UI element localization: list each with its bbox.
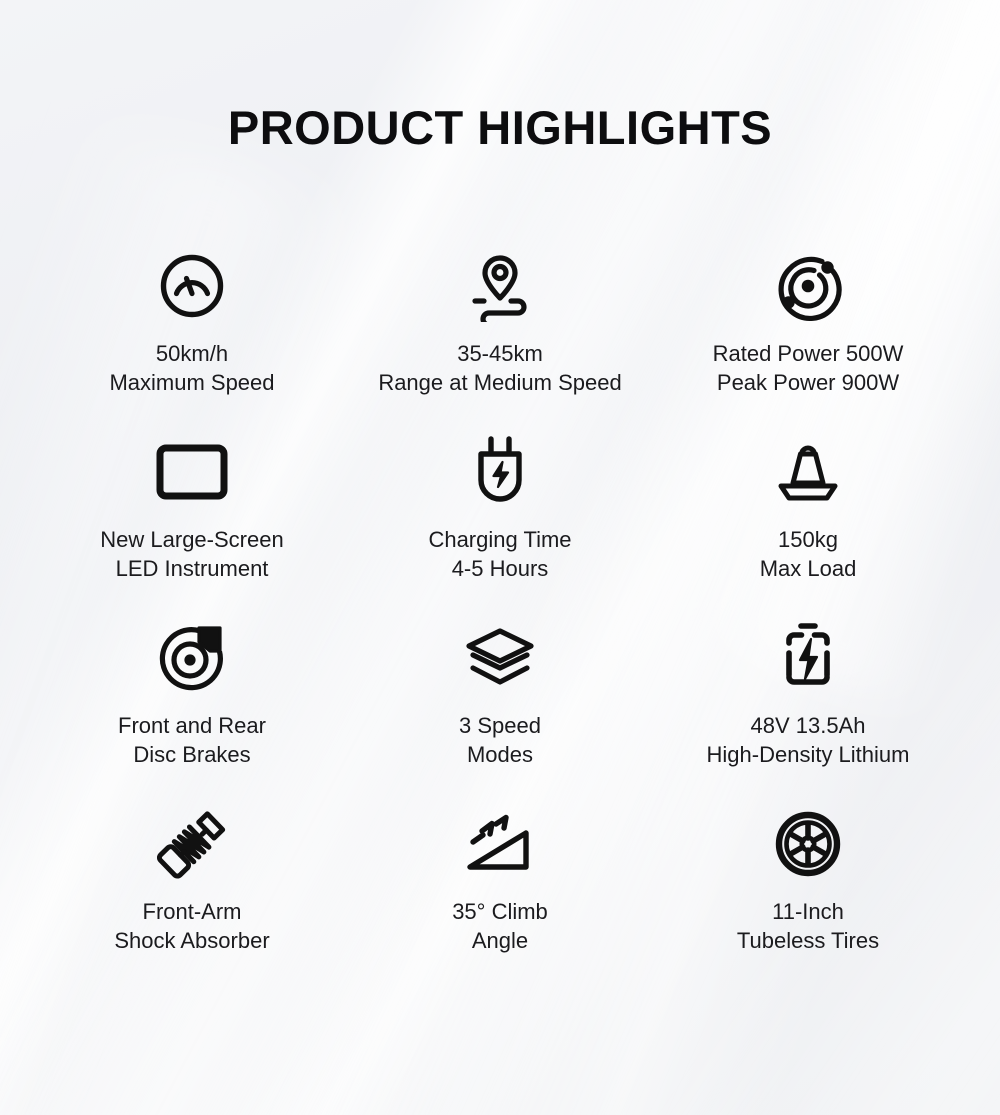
display-screen-icon (152, 435, 232, 509)
weight-load-icon (771, 435, 845, 509)
feature-cell-max-load: 150kg Max Load (654, 435, 962, 621)
feature-cell-speed-modes: 3 Speed Modes (346, 621, 654, 807)
feature-line-2: Max Load (760, 554, 857, 583)
feature-labels: 150kg Max Load (760, 525, 857, 583)
feature-cell-disc-brakes: Front and Rear Disc Brakes (38, 621, 346, 807)
feature-line-1: Front-Arm (143, 899, 242, 924)
feature-line-1: 150kg (778, 527, 838, 552)
feature-line-2: Range at Medium Speed (378, 368, 621, 397)
feature-line-2: LED Instrument (100, 554, 283, 583)
feature-line-2: Modes (459, 740, 541, 769)
feature-line-2: Disc Brakes (118, 740, 266, 769)
feature-labels: 35° Climb Angle (452, 897, 548, 955)
page-title: PRODUCT HIGHLIGHTS (0, 0, 1000, 151)
feature-cell-shock-absorber: Front-Arm Shock Absorber (38, 807, 346, 993)
feature-line-2: High-Density Lithium (707, 740, 910, 769)
feature-line-1: 11-Inch (772, 899, 844, 924)
feature-cell-range: 35-45km Range at Medium Speed (346, 249, 654, 435)
feature-line-1: New Large-Screen (100, 527, 283, 552)
feature-labels: New Large-Screen LED Instrument (100, 525, 283, 583)
feature-line-2: 4-5 Hours (428, 554, 571, 583)
feature-line-2: Shock Absorber (114, 926, 269, 955)
feature-cell-power: Rated Power 500W Peak Power 900W (654, 249, 962, 435)
speedometer-icon (156, 249, 228, 323)
layers-icon (461, 621, 539, 695)
feature-line-2: Tubeless Tires (737, 926, 879, 955)
feature-line-2: Angle (452, 926, 548, 955)
feature-labels: 11-Inch Tubeless Tires (737, 897, 879, 955)
feature-grid: 50km/h Maximum Speed 35-45km Range at (0, 249, 1000, 993)
brake-disc-icon (156, 621, 228, 695)
shock-absorber-icon (154, 807, 230, 881)
charging-plug-icon (468, 435, 532, 509)
feature-line-2: Maximum Speed (109, 368, 274, 397)
battery-bolt-icon (779, 621, 837, 695)
feature-cell-climb-angle: 35° Climb Angle (346, 807, 654, 993)
feature-line-1: 3 Speed (459, 713, 541, 738)
feature-line-2: Peak Power 900W (713, 368, 904, 397)
feature-cell-charging-time: Charging Time 4-5 Hours (346, 435, 654, 621)
feature-labels: 48V 13.5Ah High-Density Lithium (707, 711, 910, 769)
feature-labels: Charging Time 4-5 Hours (428, 525, 571, 583)
feature-labels: Rated Power 500W Peak Power 900W (713, 339, 904, 397)
feature-cell-maximum-speed: 50km/h Maximum Speed (38, 249, 346, 435)
content-container: PRODUCT HIGHLIGHTS 50km/h Maximum Speed (0, 0, 1000, 993)
feature-line-1: 50km/h (156, 341, 228, 366)
feature-labels: Front and Rear Disc Brakes (118, 711, 266, 769)
feature-line-1: Charging Time (428, 527, 571, 552)
feature-cell-battery: 48V 13.5Ah High-Density Lithium (654, 621, 962, 807)
feature-cell-led-instrument: New Large-Screen LED Instrument (38, 435, 346, 621)
motor-orbit-icon (772, 249, 844, 323)
map-pin-route-icon (462, 249, 538, 323)
product-highlights-page: PRODUCT HIGHLIGHTS 50km/h Maximum Speed (0, 0, 1000, 1115)
feature-labels: 3 Speed Modes (459, 711, 541, 769)
feature-line-1: 35-45km (457, 341, 543, 366)
feature-line-1: Rated Power 500W (713, 341, 904, 366)
climb-slope-icon (460, 807, 540, 881)
feature-labels: 50km/h Maximum Speed (109, 339, 274, 397)
feature-line-1: Front and Rear (118, 713, 266, 738)
tire-wheel-icon (772, 807, 844, 881)
feature-labels: Front-Arm Shock Absorber (114, 897, 269, 955)
feature-cell-tires: 11-Inch Tubeless Tires (654, 807, 962, 993)
feature-labels: 35-45km Range at Medium Speed (378, 339, 621, 397)
feature-line-1: 35° Climb (452, 899, 548, 924)
feature-line-1: 48V 13.5Ah (751, 713, 866, 738)
